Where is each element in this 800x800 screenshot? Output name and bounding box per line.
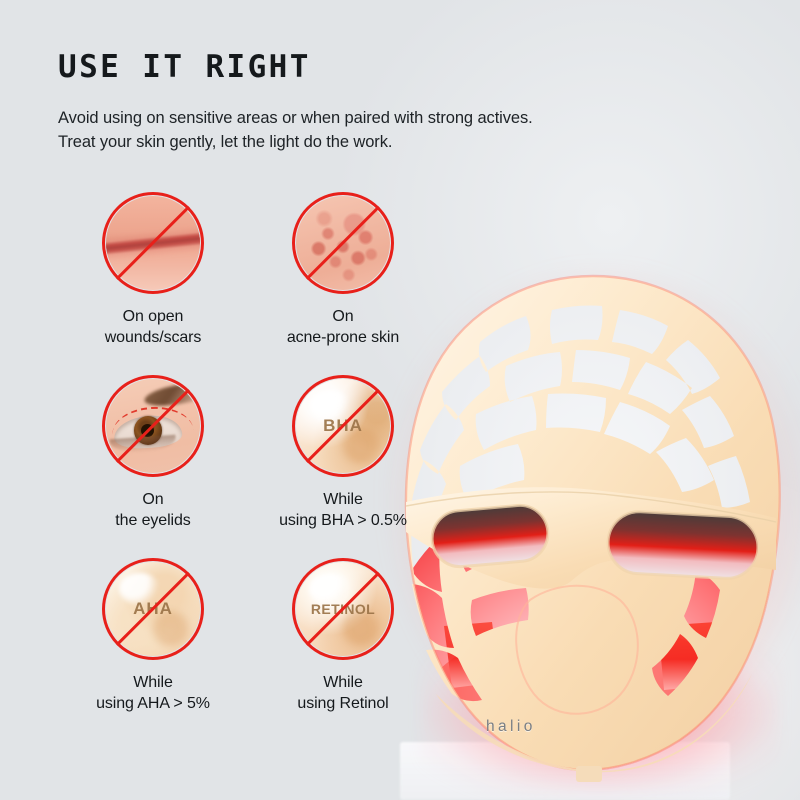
warning-item-bha: BHA While using BHA > 0.5% xyxy=(248,375,438,532)
caption-line-1: On open xyxy=(105,306,202,327)
caption-line-2: using AHA > 5% xyxy=(96,693,210,714)
warning-grid: On open wounds/scars On acne-prone skin xyxy=(58,192,438,741)
warning-caption: On acne-prone skin xyxy=(287,306,399,349)
caption-line-2: wounds/scars xyxy=(105,327,202,348)
page-subtitle: Avoid using on sensitive areas or when p… xyxy=(58,107,658,155)
use-it-right-infographic: USE IT RIGHT Avoid using on sensitive ar… xyxy=(0,0,800,800)
mask-bottom-tab xyxy=(576,766,602,782)
led-mask-illustration xyxy=(380,270,800,800)
caption-line-1: On xyxy=(115,489,190,510)
prohibition-badge: RETINOL xyxy=(292,558,394,660)
page-title: USE IT RIGHT xyxy=(58,52,658,83)
subtitle-line-2: Treat your skin gently, let the light do… xyxy=(58,131,658,155)
warning-item-aha: AHA While using AHA > 5% xyxy=(58,558,248,715)
warning-item-eyelids: On the eyelids xyxy=(58,375,248,532)
prohibition-badge xyxy=(102,375,204,477)
subtitle-line-1: Avoid using on sensitive areas or when p… xyxy=(58,107,658,131)
warning-row: On the eyelids BHA While using BHA > 0.5… xyxy=(58,375,438,532)
warning-caption: On the eyelids xyxy=(115,489,190,532)
warning-row: On open wounds/scars On acne-prone skin xyxy=(58,192,438,349)
warning-caption: While using Retinol xyxy=(297,672,388,715)
warning-row: AHA While using AHA > 5% RETINOL xyxy=(58,558,438,715)
prohibition-badge: AHA xyxy=(102,558,204,660)
caption-line-2: the eyelids xyxy=(115,510,190,531)
caption-line-2: using Retinol xyxy=(297,693,388,714)
caption-line-2: using BHA > 0.5% xyxy=(279,510,407,531)
product-photo-led-face-mask: halio xyxy=(380,270,800,800)
header-block: USE IT RIGHT Avoid using on sensitive ar… xyxy=(58,52,658,155)
mask-right-eye-opening xyxy=(606,510,759,580)
product-brand-logo: halio xyxy=(486,718,536,736)
warning-caption: While using AHA > 5% xyxy=(96,672,210,715)
warning-item-open-wounds: On open wounds/scars xyxy=(58,192,248,349)
prohibition-badge xyxy=(292,192,394,294)
warning-caption: On open wounds/scars xyxy=(105,306,202,349)
caption-line-2: acne-prone skin xyxy=(287,327,399,348)
warning-item-acne-prone-skin: On acne-prone skin xyxy=(248,192,438,349)
caption-line-1: While xyxy=(297,672,388,693)
warning-item-retinol: RETINOL While using Retinol xyxy=(248,558,438,715)
prohibition-badge xyxy=(102,192,204,294)
mask-left-eye-opening xyxy=(430,503,550,569)
caption-line-1: While xyxy=(96,672,210,693)
warning-caption: While using BHA > 0.5% xyxy=(279,489,407,532)
caption-line-1: While xyxy=(279,489,407,510)
caption-line-1: On xyxy=(287,306,399,327)
prohibition-badge: BHA xyxy=(292,375,394,477)
